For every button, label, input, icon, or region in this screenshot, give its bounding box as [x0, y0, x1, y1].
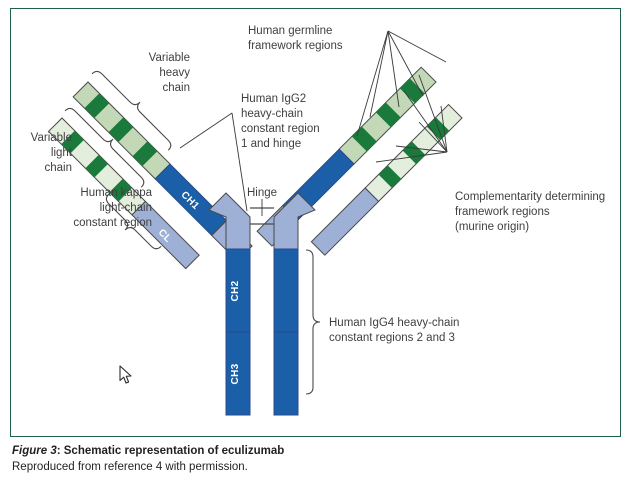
label-human-igg2-line3: constant region: [241, 123, 320, 135]
label-variable-heavy-chain-line3: chain: [163, 82, 191, 94]
figure-caption: Figure 3: Schematic representation of ec…: [12, 444, 612, 475]
caption-title-text: : Schematic representation of eculizumab: [57, 445, 285, 457]
label-variable-heavy-chain-line2: heavy: [159, 67, 190, 79]
label-human-igg4-line1: Human IgG4 heavy-chain: [329, 317, 459, 329]
ch2-label: CH2: [230, 280, 241, 301]
label-human-igg2-line1: Human IgG2: [241, 93, 306, 105]
label-human-germline-line1: Human germline: [248, 25, 332, 37]
label-variable-heavy-chain-line1: Variable: [149, 52, 190, 64]
label-cdr-line2: framework regions: [455, 206, 550, 218]
label-hinge: Hinge: [247, 187, 277, 199]
brace-human-igg4-constant: [306, 250, 320, 394]
label-cdr-line3: (murine origin): [455, 221, 529, 233]
label-human-igg2-line2: heavy-chain: [241, 108, 303, 120]
label-variable-light-chain-line2: light: [51, 147, 73, 159]
label-variable-light-chain-line1: Variable: [31, 132, 72, 144]
label-cdr-line1: Complementarity determining: [455, 191, 605, 203]
label-variable-light-chain-line3: chain: [45, 162, 73, 174]
eculizumab-schematic-diagram: CL CH1 CH2 CH3: [0, 0, 633, 485]
caption-title-line: Figure 3: Schematic representation of ec…: [12, 444, 612, 459]
label-human-kappa-line3: constant region: [73, 217, 152, 229]
mouse-cursor: [119, 365, 133, 385]
label-human-germline-line2: framework regions: [248, 40, 343, 52]
label-human-igg4-line2: constant regions 2 and 3: [329, 332, 455, 344]
right-ch3-domain: [274, 332, 298, 415]
label-human-kappa-line1: Human kappa: [80, 187, 152, 199]
caption-figure-number: Figure 3: [12, 445, 57, 457]
label-human-igg2-line4: 1 and hinge: [241, 138, 301, 150]
right-ch2-domain: [274, 249, 298, 332]
ch3-label: CH3: [230, 363, 241, 384]
right-cl-domain: [311, 188, 378, 255]
leader-human-igg2: [180, 113, 232, 148]
label-human-kappa-line2: light-chain: [100, 202, 152, 214]
caption-credit: Reproduced from reference 4 with permiss…: [12, 460, 612, 475]
